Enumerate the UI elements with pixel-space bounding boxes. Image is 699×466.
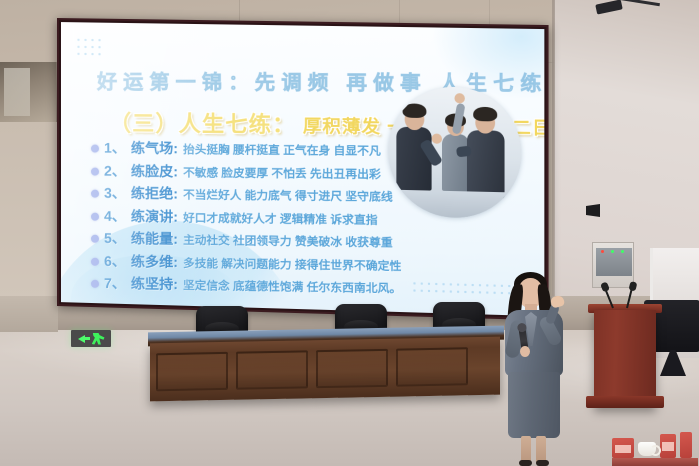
bullet-keyword: 练多维:	[131, 251, 178, 272]
bullet-keyword: 练气场:	[131, 138, 178, 158]
bullet-keyword: 练脸皮:	[131, 160, 178, 181]
bullet-number: 2、	[104, 160, 126, 180]
bullet-dot-icon	[91, 212, 99, 220]
bullet-dot-icon	[91, 257, 99, 265]
wall-control-panel	[592, 242, 634, 288]
left-wall-lower	[0, 122, 58, 322]
speaker-podium	[594, 310, 656, 408]
bullet-dot-icon	[91, 280, 99, 288]
bullet-detail: 好口才成就好人才 逻辑精准 诉求直指	[183, 209, 378, 227]
bullet-number: 7、	[104, 273, 126, 293]
bullet-number: 3、	[104, 183, 126, 203]
exit-arrow-icon	[78, 335, 85, 343]
bullet-detail: 多技能 解决问题能力 接得住世界不确定性	[183, 254, 401, 273]
wall-speaker	[586, 204, 600, 217]
bullet-keyword: 练能量:	[131, 228, 178, 249]
bullet-detail: 抬头挺胸 腰杆挺直 正气在身 自显不凡	[183, 141, 381, 159]
bullet-keyword: 练坚持:	[131, 273, 178, 294]
slide-photo	[388, 86, 521, 219]
bullet-keyword: 练演讲:	[131, 206, 178, 227]
presenter-speaker	[492, 272, 578, 466]
bullet-detail: 坚定信念 底蕴德性饱满 任尔东西南北风。	[183, 277, 401, 296]
running-person-icon	[92, 333, 105, 345]
bullet-dot-icon	[91, 190, 99, 198]
podium-base	[586, 396, 664, 408]
emergency-exit-sign	[71, 330, 111, 347]
bullet-keyword: 练拒绝:	[131, 183, 178, 204]
bullet-number: 5、	[104, 228, 126, 248]
bullet-dot-icon	[91, 235, 99, 243]
bullet-number: 4、	[104, 205, 126, 225]
exit-arrow-icon	[85, 337, 90, 340]
bullet-dot-icon	[91, 145, 99, 153]
dot-grid-icon	[75, 36, 105, 59]
bullet-number: 6、	[104, 250, 126, 270]
projection-screen: 好运第一锦：先调频 再做事 人生七练 （三）人生七练： 厚积薄发 一鸣惊人/一鸣…	[57, 18, 549, 320]
bullet-detail: 主动社交 社团领导力 赞美破冰 收获尊重	[183, 232, 393, 251]
slide-title-main: （三）人生七练：	[109, 111, 296, 138]
conference-hall-scene: 好运第一锦：先调频 再做事 人生七练 （三）人生七练： 厚积薄发 一鸣惊人/一鸣…	[0, 0, 699, 466]
bullet-dot-icon	[91, 167, 99, 175]
gift-boxes	[612, 432, 698, 466]
bullet-detail: 不当烂好人 能力底气 得寸进尺 坚守底线	[183, 187, 393, 205]
left-side-panel	[0, 296, 58, 332]
conference-desk	[150, 337, 500, 402]
left-window	[0, 62, 58, 122]
raised-hand	[550, 294, 566, 308]
mic-hand	[520, 346, 530, 357]
bullet-detail: 不敏感 脸皮要厚 不怕丢 先出丑再出彩	[183, 164, 381, 182]
presentation-slide: 好运第一锦：先调频 再做事 人生七练 （三）人生七练： 厚积薄发 一鸣惊人/一鸣…	[61, 22, 544, 316]
white-cup	[638, 442, 656, 456]
bullet-number: 1、	[104, 138, 126, 158]
